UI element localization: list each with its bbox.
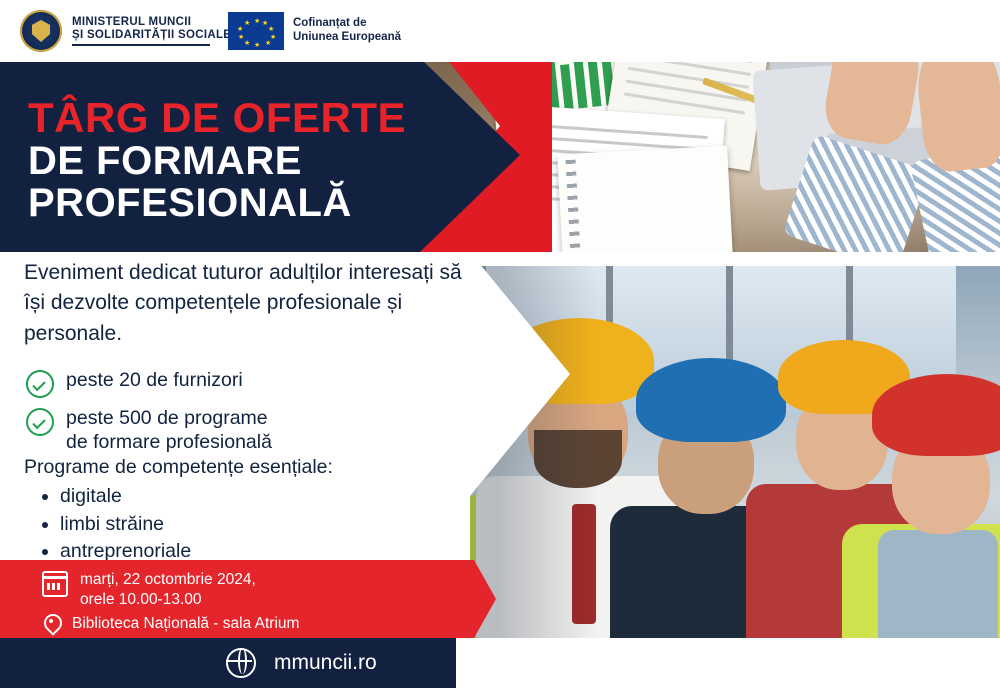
header-band: MINISTERUL MUNCII ȘI SOLIDARITĂȚII SOCIA… [0,0,1000,62]
romania-coat-of-arms-icon [20,10,62,52]
eu-logo-group: ★ ★ ★ ★ ★ ★ ★ ★ ★ ★ Cofinanțat de Uniune… [228,12,401,50]
ministry-line-1: MINISTERUL MUNCII [72,16,231,29]
ministry-logo-group: MINISTERUL MUNCII ȘI SOLIDARITĂȚII SOCIA… [20,10,231,52]
programs-block: Programe de competențe esențiale: digita… [24,456,333,566]
event-date-line-1: marți, 22 octombrie 2024, [80,571,256,588]
intro-paragraph: Eveniment dedicat tuturor adulților inte… [24,258,464,349]
ministry-line-2: ȘI SOLIDARITĂȚII SOCIALE [72,29,231,42]
list-item: peste 500 de programe de formare profesi… [26,406,272,455]
event-details-band: marți, 22 octombrie 2024, orele 10.00-13… [0,560,496,638]
website-url[interactable]: mmuncii.ro [274,651,377,675]
photo-edge-shade [456,266,1000,688]
event-date-row: marți, 22 octombrie 2024, orele 10.00-13… [42,570,256,610]
ministry-text: MINISTERUL MUNCII ȘI SOLIDARITĂȚII SOCIA… [72,16,231,46]
event-date-text: marți, 22 octombrie 2024, orele 10.00-13… [80,570,256,610]
list-item: limbi străine [60,511,333,539]
check-circle-icon [26,408,54,436]
page-title: TÂRG DE OFERTE DE FORMARE PROFESIONALĂ [28,96,406,224]
title-line-2: DE FORMARE [28,140,406,182]
list-item: digitale [60,483,333,511]
programs-list: digitale limbi străine antreprenoriale [24,483,333,566]
check-circle-icon [26,370,54,398]
footer-bar: mmuncii.ro [0,638,456,688]
highlight-text-2: peste 500 de programe de formare profesi… [66,406,272,455]
highlight-text-1: peste 20 de furnizori [66,368,243,392]
globe-icon [226,648,256,678]
ring-notebook [557,146,733,252]
title-line-3: PROFESIONALĂ [28,182,406,224]
list-item: peste 20 de furnizori [26,368,272,398]
event-date-line-2: orele 10.00-13.00 [80,591,202,608]
location-pin-icon [42,614,60,632]
eu-text: Cofinanțat de Uniunea Europeană [293,17,401,45]
eu-line-1: Cofinanțat de [293,17,401,31]
photo-construction-team [456,266,1000,688]
title-line-1: TÂRG DE OFERTE [28,96,406,140]
event-location-text: Biblioteca Națională - sala Atrium [72,614,299,634]
highlights-list: peste 20 de furnizori peste 500 de progr… [26,368,272,463]
programs-lead: Programe de competențe esențiale: [24,456,333,479]
ministry-underline [72,44,210,46]
calendar-icon [42,571,68,597]
poster: MINISTERUL MUNCII ȘI SOLIDARITĂȚII SOCIA… [0,0,1000,688]
eu-line-2: Uniunea Europeană [293,31,401,45]
event-location-row: Biblioteca Națională - sala Atrium [42,614,299,634]
eu-flag-icon: ★ ★ ★ ★ ★ ★ ★ ★ ★ ★ [228,12,284,50]
